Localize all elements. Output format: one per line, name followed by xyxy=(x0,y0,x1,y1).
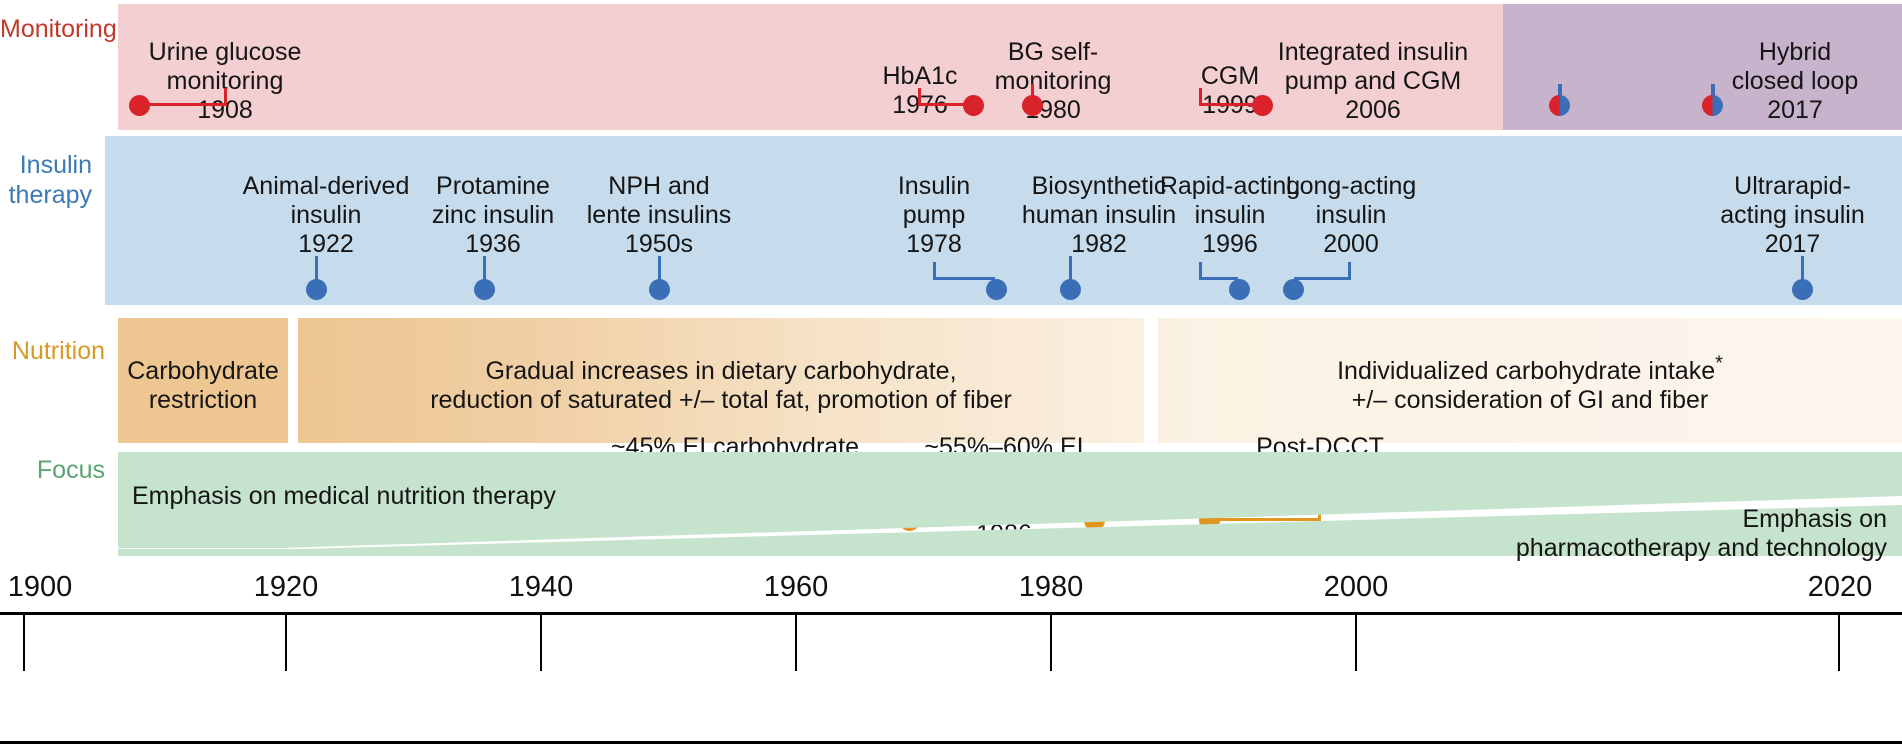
connector-stem-1922 xyxy=(315,256,318,280)
entry-year: 2017 xyxy=(1690,230,1895,259)
row-label-monitoring: Monitoring xyxy=(0,14,105,44)
axis-tick-1900 xyxy=(23,615,25,671)
entry-year: 1978 xyxy=(869,230,999,259)
marker-dot-1908 xyxy=(129,95,150,116)
row-label-nutrition: Nutrition xyxy=(0,336,105,366)
marker-dot-2017-insulin xyxy=(1792,279,1813,300)
entry-title: Emphasis on medical nutrition therapy xyxy=(132,482,556,510)
axis-label-1940: 1940 xyxy=(501,571,581,604)
axis-label-2020: 2020 xyxy=(1800,571,1880,604)
entry-title: BG self- monitoring xyxy=(995,38,1112,95)
entry-title: Long-acting insulin xyxy=(1286,172,1417,229)
connector-stem-1950s xyxy=(658,256,661,280)
axis-label-1900: 1900 xyxy=(0,571,80,604)
insulin-entry-ultrarapid-acting: Ultrarapid- acting insulin 2017 xyxy=(1690,143,1895,288)
entry-year: 1922 xyxy=(226,230,426,259)
axis-label-1980: 1980 xyxy=(1011,571,1091,604)
focus-entry-pharmacotherapy: Emphasis on pharmacotherapy and technolo… xyxy=(1150,476,1887,563)
axis-label-1960: 1960 xyxy=(756,571,836,604)
monitoring-entry-integrated-pump-cgm: Integrated insulin pump and CGM 2006 xyxy=(1258,9,1488,154)
marker-dot-1922 xyxy=(306,279,327,300)
entry-title: Insulin pump xyxy=(898,172,970,229)
footnote-asterisk: * xyxy=(1715,353,1723,375)
entry-title: Protamine zinc insulin xyxy=(432,172,554,229)
entry-title: NPH and lente insulins xyxy=(587,172,732,229)
nutrition-box-1-text: Carbohydrate restriction xyxy=(118,328,288,415)
axis-tick-2000 xyxy=(1355,615,1357,671)
axis-tick-1980 xyxy=(1050,615,1052,671)
axis-tick-1960 xyxy=(795,615,797,671)
entry-title: HbA1c xyxy=(882,62,957,90)
marker-dot-2000 xyxy=(1283,279,1304,300)
connector-stem-2017-insulin xyxy=(1801,256,1804,280)
connector-stem-1982 xyxy=(1069,256,1072,280)
marker-dot-1936 xyxy=(474,279,495,300)
entry-year: 1980 xyxy=(968,96,1138,125)
marker-dot-2006 xyxy=(1549,95,1570,116)
row-label-insulin-therapy: Insulin therapy xyxy=(0,150,92,210)
focus-entry-nutrition-therapy: Emphasis on medical nutrition therapy xyxy=(132,453,732,511)
nutrition-box-2-text: Gradual increases in dietary carbohydrat… xyxy=(298,328,1144,415)
entry-title: Hybrid closed loop xyxy=(1732,38,1858,95)
connector-arm-1908 xyxy=(140,103,227,106)
marker-dot-1982 xyxy=(1060,279,1081,300)
entry-year: 1950s xyxy=(565,230,753,259)
nutrition-box-3-text: Individualized carbohydrate intake* +/– … xyxy=(1158,328,1902,415)
marker-dot-1950s xyxy=(649,279,670,300)
entry-year: 1936 xyxy=(400,230,586,259)
row-label-focus: Focus xyxy=(0,455,105,485)
entry-title: CGM xyxy=(1201,62,1259,90)
insulin-entry-long-acting: Long-acting insulin 2000 xyxy=(1262,143,1440,288)
entry-title: Urine glucose monitoring xyxy=(149,38,302,95)
entry-title: Ultrarapid- acting insulin xyxy=(1720,172,1865,229)
axis-label-1920: 1920 xyxy=(246,571,326,604)
monitoring-entry-hybrid-closed-loop: Hybrid closed loop 2017 xyxy=(1700,9,1890,154)
entry-year: 2017 xyxy=(1700,96,1890,125)
entry-year: 2006 xyxy=(1258,96,1488,125)
marker-dot-1996 xyxy=(1229,279,1250,300)
connector-stem-1936 xyxy=(483,256,486,280)
entry-title: Animal-derived insulin xyxy=(243,172,410,229)
timeline-figure: Monitoring Urine glucose monitoring 1908… xyxy=(0,0,1902,744)
insulin-entry-protamine-zinc: Protamine zinc insulin 1936 xyxy=(400,143,586,288)
connector-arm-2000 xyxy=(1294,277,1351,280)
entry-title: Integrated insulin pump and CGM xyxy=(1278,38,1468,95)
axis-label-2000: 2000 xyxy=(1316,571,1396,604)
entry-title: Emphasis on pharmacotherapy and technolo… xyxy=(1516,505,1887,562)
box-text: Carbohydrate restriction xyxy=(127,357,278,414)
marker-dot-2017-monitoring xyxy=(1702,95,1723,116)
monitoring-entry-urine-glucose: Urine glucose monitoring 1908 xyxy=(118,9,332,154)
entry-year: 2000 xyxy=(1262,230,1440,259)
marker-dot-1980 xyxy=(1022,95,1043,116)
connector-arm-1996 xyxy=(1199,277,1238,280)
insulin-entry-animal-derived: Animal-derived insulin 1922 xyxy=(226,143,426,288)
axis-tick-2020 xyxy=(1838,615,1840,671)
monitoring-entry-bg-self-monitoring: BG self- monitoring 1980 xyxy=(968,9,1138,154)
axis-tick-1940 xyxy=(540,615,542,671)
connector-arm-1978 xyxy=(933,277,995,280)
axis-tick-1920 xyxy=(285,615,287,671)
